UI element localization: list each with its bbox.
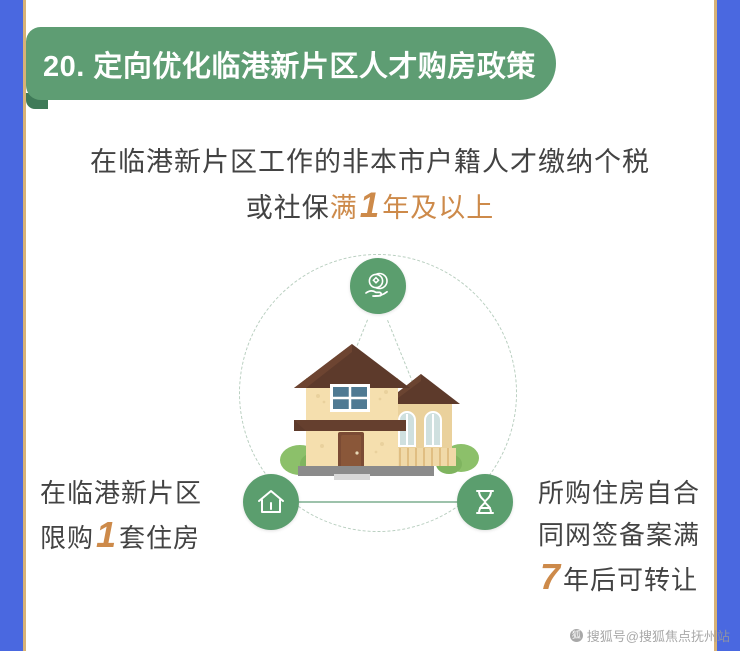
- watermark: 狐 搜狐号@搜狐焦点抚州站: [570, 626, 730, 645]
- caption-right-line-1: 所购住房自合: [538, 472, 700, 514]
- caption-right: 所购住房自合 同网签备案满 7年后可转让: [538, 472, 700, 601]
- circular-diagram: [233, 248, 523, 538]
- headline-number: 1: [358, 186, 382, 225]
- left-blue-stripe: [0, 0, 23, 651]
- caption-left-number: 1: [94, 514, 119, 555]
- node-top[interactable]: [350, 258, 406, 314]
- caption-right-line-2: 同网签备案满: [538, 514, 700, 556]
- caption-left-prefix: 限购: [40, 523, 94, 553]
- house-illustration: [278, 336, 483, 496]
- caption-left-line-1: 在临港新片区: [40, 472, 202, 514]
- base-connector-line: [299, 501, 457, 503]
- headline-block: 在临港新片区工作的非本市户籍人才缴纳个税 或社保满1年及以上: [26, 140, 714, 230]
- caption-left-suffix: 套住房: [119, 523, 200, 553]
- title-banner: 20. 定向优化临港新片区人才购房政策: [26, 27, 556, 100]
- caption-right-suffix: 年后可转让: [563, 565, 698, 595]
- headline-accent-post: 年及以上: [382, 193, 494, 223]
- headline-line-2-prefix: 或社保: [246, 193, 330, 223]
- banner-title-text: 20. 定向优化临港新片区人才购房政策: [26, 43, 536, 85]
- right-blue-stripe: [717, 0, 740, 651]
- hourglass-icon: [469, 486, 501, 518]
- right-gold-rule: [714, 0, 717, 651]
- home-icon: [255, 486, 287, 518]
- headline-accent-pre: 满: [330, 193, 358, 223]
- node-bottom-right[interactable]: [457, 474, 513, 530]
- banner-body: 20. 定向优化临港新片区人才购房政策: [26, 27, 556, 100]
- caption-right-line-3: 7年后可转让: [538, 556, 700, 601]
- headline-line-1: 在临港新片区工作的非本市户籍人才缴纳个税: [26, 140, 714, 184]
- watermark-text: 搜狐号@搜狐焦点抚州站: [587, 626, 730, 645]
- caption-right-number: 7: [538, 556, 563, 597]
- caption-left: 在临港新片区 限购1套住房: [40, 472, 202, 559]
- infographic-page: 20. 定向优化临港新片区人才购房政策 在临港新片区工作的非本市户籍人才缴纳个税…: [0, 0, 740, 651]
- hand-holding-coin-icon: [361, 269, 395, 303]
- content-canvas: 20. 定向优化临港新片区人才购房政策 在临港新片区工作的非本市户籍人才缴纳个税…: [26, 0, 714, 651]
- sohu-logo-icon: 狐: [570, 629, 583, 642]
- node-bottom-left[interactable]: [243, 474, 299, 530]
- caption-left-line-2: 限购1套住房: [40, 514, 202, 559]
- headline-line-2: 或社保满1年及以上: [26, 184, 714, 230]
